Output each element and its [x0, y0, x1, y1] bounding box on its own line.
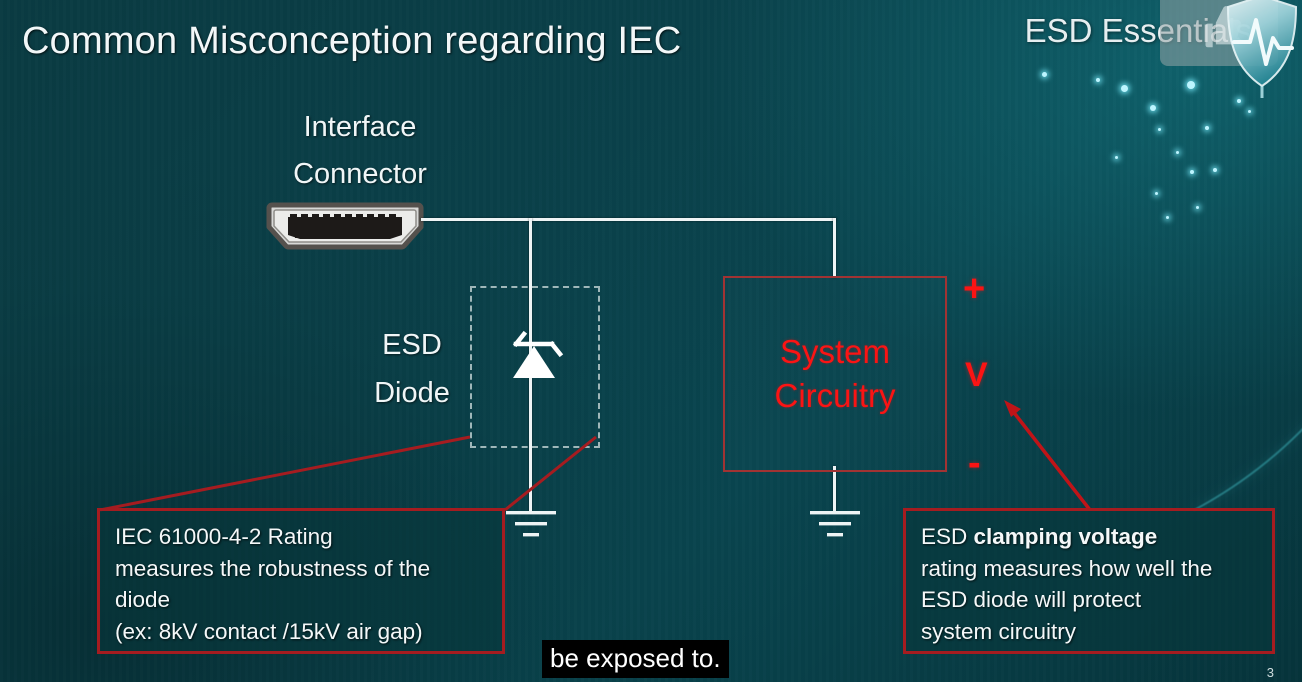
callout-right-text: ESD clamping voltage rating measures how…: [906, 511, 1272, 648]
slide-canvas: Common Misconception regarding IEC ESD E…: [0, 0, 1302, 682]
system-circuitry-line1: System: [780, 330, 890, 374]
subtitle-caption: be exposed to.: [542, 640, 729, 678]
voltage-plus-marker: +: [963, 268, 985, 311]
page-number: 3: [1267, 665, 1274, 680]
tvs-zener-diode-icon: [494, 316, 574, 392]
page-title: Common Misconception regarding IEC: [22, 20, 681, 63]
particle-dot: [1096, 78, 1100, 82]
particle-dot: [1196, 206, 1199, 209]
particle-dot: [1248, 110, 1251, 113]
ground-symbol-icon: [504, 508, 558, 542]
particle-dot: [1150, 105, 1156, 111]
esd-label-line1: ESD: [352, 322, 472, 370]
callout-iec-rating: IEC 61000-4-2 Rating measures the robust…: [97, 508, 505, 654]
callout-right-line4: system circuitry: [921, 616, 1272, 648]
particle-dot: [1115, 156, 1118, 159]
particle-dot: [1155, 192, 1158, 195]
callout-right-line2: rating measures how well the: [921, 553, 1272, 585]
particle-dot: [1190, 170, 1194, 174]
esd-diode-label: ESD Diode: [352, 322, 472, 418]
system-circuitry-line2: Circuitry: [775, 374, 896, 418]
callout-right-line1-prefix: ESD: [921, 524, 974, 549]
esd-label-line2: Diode: [352, 370, 472, 418]
connector-label-line1: Interface: [270, 104, 450, 151]
callout-left-line2: measures the robustness of the: [115, 553, 502, 585]
wire-system-to-ground: [833, 466, 836, 512]
particle-dot: [1205, 126, 1209, 130]
arrow-up-left-icon: [1004, 400, 1021, 417]
callout-right-line1: ESD clamping voltage: [921, 521, 1272, 553]
ground-symbol-icon: [808, 508, 862, 542]
shield-pulse-icon: [1226, 0, 1298, 98]
callout-left-line4: (ex: 8kV contact /15kV air gap): [115, 616, 502, 648]
callout-right-line1-bold: clamping voltage: [974, 524, 1158, 549]
callout-left-text: IEC 61000-4-2 Rating measures the robust…: [100, 511, 502, 648]
hdmi-connector-icon: [266, 202, 424, 250]
particle-dot: [1176, 151, 1179, 154]
particle-dot: [1158, 128, 1161, 131]
connector-label-line2: Connector: [270, 151, 450, 198]
interface-connector-label: Interface Connector: [270, 104, 450, 198]
particle-dot: [1121, 85, 1128, 92]
system-circuitry-box: System Circuitry: [723, 276, 947, 472]
callout-clamping-voltage: ESD clamping voltage rating measures how…: [903, 508, 1275, 654]
particle-dot: [1237, 99, 1241, 103]
wire-to-system-circuitry: [833, 218, 836, 278]
wire-connector-to-bus: [421, 218, 836, 221]
callout-left-line3: diode: [115, 584, 502, 616]
callout-left-line1: IEC 61000-4-2 Rating: [115, 521, 502, 553]
voltage-minus-marker: -: [968, 442, 981, 485]
callout-right-line3: ESD diode will protect: [921, 584, 1272, 616]
particle-dot: [1213, 168, 1217, 172]
particle-dot: [1166, 216, 1169, 219]
voltage-v-marker: V: [965, 356, 988, 395]
particle-dot: [1187, 81, 1195, 89]
particle-dot: [1042, 72, 1047, 77]
